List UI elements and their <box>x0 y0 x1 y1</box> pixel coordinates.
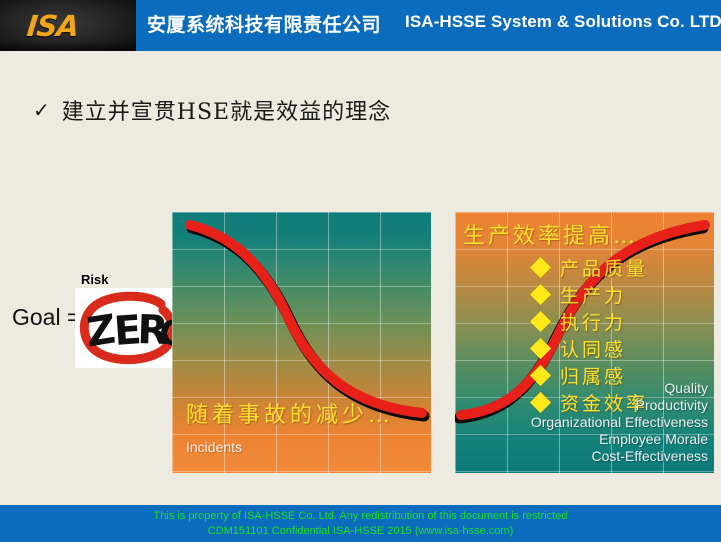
diamond-bullet-icon <box>530 284 551 305</box>
zero-graphic: Z E R O <box>75 288 180 368</box>
chart-panel-incidents: 随着事故的减少… Incidents <box>172 212 431 473</box>
header-title-chinese: 安厦系统科技有限责任公司 <box>147 10 381 37</box>
english-benefits-overlay: Quality Productivity Organizational Effe… <box>531 380 708 465</box>
bullet-label: 产品质量 <box>560 254 648 281</box>
declining-curve <box>172 212 431 473</box>
risk-label: Risk <box>81 272 108 287</box>
slide-header: ISA 安厦系统科技有限责任公司 ISA-HSSE System & Solut… <box>0 0 721 51</box>
goal-label: Goal = <box>12 304 80 331</box>
headline-bullet: ✓建立并宣贯HSE就是效益的理念 <box>33 94 391 126</box>
diamond-bullet-icon <box>530 338 551 359</box>
left-panel-caption-english: Incidents <box>186 439 242 455</box>
check-icon: ✓ <box>33 98 50 122</box>
slide-canvas: ISA 安厦系统科技有限责任公司 ISA-HSSE System & Solut… <box>0 0 721 542</box>
bullet-label: 执行力 <box>560 308 626 335</box>
slide-footer: This is property of ISA-HSSE Co. Ltd. An… <box>0 505 721 542</box>
overlay-line: Productivity <box>531 397 708 414</box>
bullet-label: 生产力 <box>560 281 626 308</box>
header-title-english: ISA-HSSE System & Solutions Co. LTD <box>405 12 721 32</box>
left-panel-caption-chinese: 随着事故的减少… <box>186 397 394 429</box>
overlay-line: Cost-Effectiveness <box>531 448 708 465</box>
isa-logo: ISA <box>25 9 80 43</box>
headline-text: 建立并宣贯HSE就是效益的理念 <box>62 100 391 125</box>
list-item: 生产力 <box>533 281 648 308</box>
diamond-bullet-icon <box>530 257 551 278</box>
overlay-line: Quality <box>531 380 708 397</box>
chart-panel-productivity: 生产效率提高… 产品质量 生产力 执行力 认同感 归属感 <box>455 212 714 473</box>
goal-zero-group: Goal = Risk Z E R O <box>8 272 183 372</box>
diamond-bullet-icon <box>530 311 551 332</box>
overlay-line: Employee Morale <box>531 431 708 448</box>
bullet-label: 认同感 <box>560 335 626 362</box>
logo-block: ISA <box>0 0 136 51</box>
right-panel-caption-chinese: 生产效率提高… <box>463 218 638 250</box>
overlay-line: Organizational Effectiveness <box>531 414 708 431</box>
footer-line-1: This is property of ISA-HSSE Co. Ltd. An… <box>0 509 721 524</box>
list-item: 认同感 <box>533 335 648 362</box>
footer-line-2: CDM151101 Confidential ISA-HSSE 2015 (ww… <box>0 524 721 539</box>
list-item: 产品质量 <box>533 254 648 281</box>
list-item: 执行力 <box>533 308 648 335</box>
